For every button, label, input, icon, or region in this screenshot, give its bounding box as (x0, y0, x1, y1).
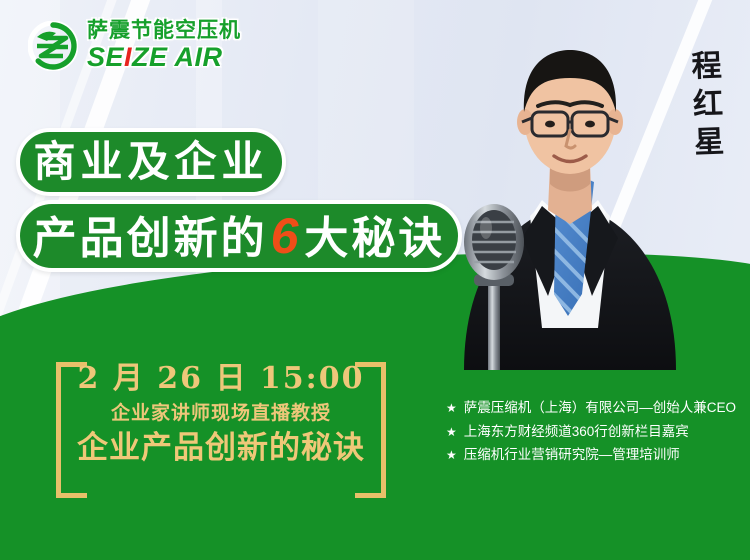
event-main-line: 企业产品创新的秘诀 (76, 428, 366, 468)
credential-text: 上海东方财经频道360行创新栏目嘉宾 (464, 425, 689, 439)
logo-wordmark: 萨震节能空压机 SEIZE AIR (87, 20, 241, 71)
logo-english-name: SEIZE AIR (87, 44, 241, 71)
list-item: ★ 上海东方财经频道360行创新栏目嘉宾 (446, 420, 738, 444)
headline-pill-secondary: 产品创新的6大秘诀 (16, 200, 462, 272)
speaker-portrait-illustration (430, 28, 710, 370)
speaker-name-char-1: 程 (691, 52, 722, 83)
event-subtitle: 企业家讲师现场直播教授 (76, 398, 366, 428)
event-details-block: 2 月 26 日 15:00 企业家讲师现场直播教授 企业产品创新的秘诀 (56, 360, 386, 490)
logo-en-suffix: ZE AIR (132, 42, 223, 72)
event-text-group: 2 月 26 日 15:00 企业家讲师现场直播教授 企业产品创新的秘诀 (76, 360, 366, 468)
headline-line-2-before: 产品创新的 (33, 214, 268, 263)
brand-logo: 萨震节能空压机 SEIZE AIR (28, 20, 241, 71)
star-icon: ★ (446, 426, 457, 438)
promotional-poster: 萨震节能空压机 SEIZE AIR 商业及企业 产品创新的6大秘诀 程 红 星 … (0, 0, 750, 560)
list-item: ★ 萨震压缩机（上海）有限公司—创始人兼CEO (446, 396, 738, 420)
logo-en-highlight: I (124, 42, 132, 72)
credential-text: 压缩机行业营销研究院—管理培训师 (464, 448, 680, 462)
star-icon: ★ (446, 449, 457, 461)
event-date-time: 2 月 26 日 15:00 (76, 360, 366, 398)
headline-line-2: 产品创新的6大秘诀 (33, 211, 446, 261)
logo-en-prefix: SE (87, 42, 124, 72)
headline-number: 6 (268, 208, 305, 264)
speaker-name: 程 红 星 (684, 51, 732, 158)
credential-text: 萨震压缩机（上海）有限公司—创始人兼CEO (464, 401, 736, 415)
list-item: ★ 压缩机行业营销研究院—管理培训师 (446, 443, 738, 467)
credentials-list: ★ 萨震压缩机（上海）有限公司—创始人兼CEO ★ 上海东方财经频道360行创新… (446, 396, 738, 467)
speaker-name-char-2: 红 (692, 89, 723, 120)
speaker-photo (430, 28, 710, 370)
headline-line-2-after: 大秘诀 (304, 214, 445, 263)
logo-chinese-name: 萨震节能空压机 (87, 20, 241, 41)
star-icon: ★ (446, 402, 457, 414)
headline-pill-primary: 商业及企业 (16, 128, 286, 196)
speaker-name-char-3: 星 (694, 127, 725, 158)
sz-monogram-icon (28, 21, 78, 71)
headline-line-1: 商业及企业 (33, 141, 268, 183)
